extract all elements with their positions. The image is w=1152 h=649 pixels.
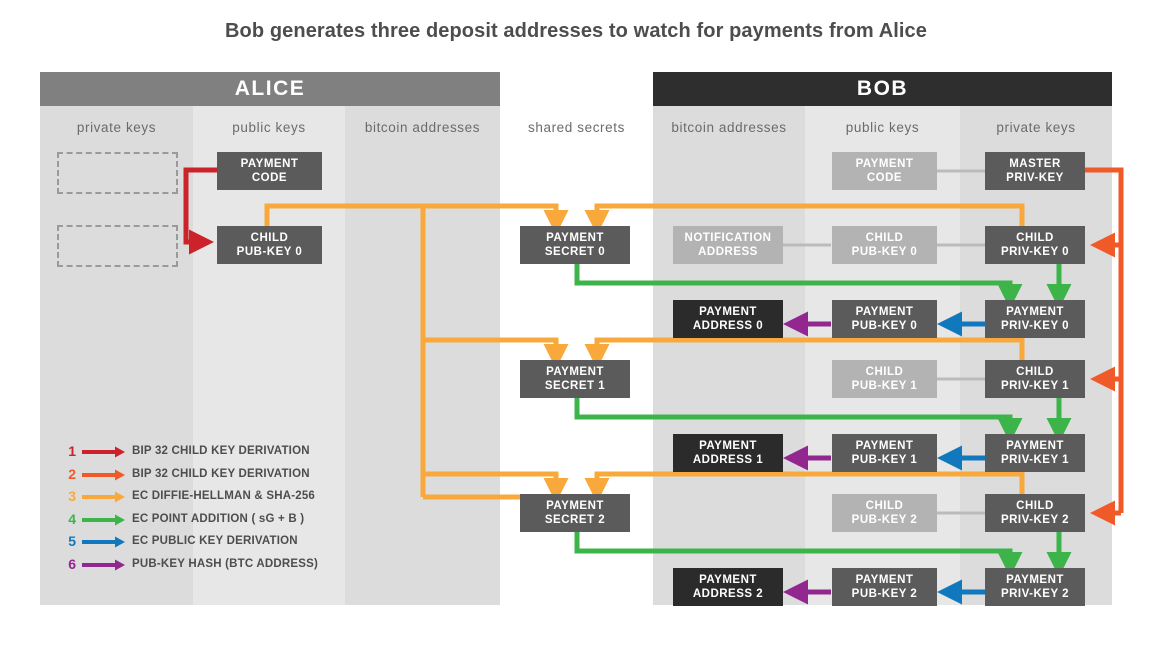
box-line-1: CHILD bbox=[866, 499, 904, 513]
legend-number: 2 bbox=[60, 466, 76, 482]
box-line-1: PAYMENT bbox=[1006, 439, 1064, 453]
bob-payment-pubkey-0-box[interactable]: PAYMENT PUB-KEY 0 bbox=[832, 300, 937, 338]
bob-payment-pubkey-2-box[interactable]: PAYMENT PUB-KEY 2 bbox=[832, 568, 937, 606]
legend-arrow-icon bbox=[82, 468, 126, 480]
box-line-2: CODE bbox=[867, 171, 902, 185]
box-line-2: SECRET 1 bbox=[545, 379, 605, 393]
legend-item: 1 BIP 32 CHILD KEY DERIVATION bbox=[60, 440, 360, 463]
box-line-2: PUB-KEY 1 bbox=[852, 379, 918, 393]
box-line-1: PAYMENT bbox=[241, 157, 299, 171]
box-line-1: PAYMENT bbox=[856, 305, 914, 319]
box-line-2: ADDRESS 1 bbox=[693, 453, 763, 467]
alice-child-pubkey-0-box[interactable]: CHILD PUB-KEY 0 bbox=[217, 226, 322, 264]
alice-payment-code-box[interactable]: PAYMENT CODE bbox=[217, 152, 322, 190]
box-line-2: PUB-KEY 0 bbox=[852, 319, 918, 333]
bob-master-privkey-box[interactable]: MASTER PRIV-KEY bbox=[985, 152, 1085, 190]
box-line-1: PAYMENT bbox=[699, 573, 757, 587]
bob-child-pubkey-2-box[interactable]: CHILD PUB-KEY 2 bbox=[832, 494, 937, 532]
box-line-1: PAYMENT bbox=[546, 499, 604, 513]
box-line-2: PRIV-KEY 1 bbox=[1001, 379, 1069, 393]
legend: 1 BIP 32 CHILD KEY DERIVATION 2 BIP 32 C… bbox=[60, 440, 360, 575]
bob-child-privkey-0-box[interactable]: CHILD PRIV-KEY 0 bbox=[985, 226, 1085, 264]
box-line-2: PRIV-KEY 2 bbox=[1001, 587, 1069, 601]
box-line-1: CHILD bbox=[1016, 231, 1054, 245]
legend-item: 3 EC DIFFIE-HELLMAN & SHA-256 bbox=[60, 485, 360, 508]
box-line-1: CHILD bbox=[866, 231, 904, 245]
box-line-1: PAYMENT bbox=[546, 365, 604, 379]
bob-payment-privkey-2-box[interactable]: PAYMENT PRIV-KEY 2 bbox=[985, 568, 1085, 606]
alice-private-key-placeholder-1 bbox=[57, 225, 178, 267]
alice-private-key-placeholder-0 bbox=[57, 152, 178, 194]
bob-payment-address-2-box[interactable]: PAYMENT ADDRESS 2 bbox=[673, 568, 783, 606]
legend-arrow-icon bbox=[82, 490, 126, 502]
legend-number: 3 bbox=[60, 488, 76, 504]
box-line-2: PRIV-KEY 2 bbox=[1001, 513, 1069, 527]
box-line-1: PAYMENT bbox=[546, 231, 604, 245]
bob-child-privkey-1-box[interactable]: CHILD PRIV-KEY 1 bbox=[985, 360, 1085, 398]
bob-payment-privkey-1-box[interactable]: PAYMENT PRIV-KEY 1 bbox=[985, 434, 1085, 472]
legend-label: EC POINT ADDITION ( sG + B ) bbox=[132, 513, 304, 525]
box-line-2: PUB-KEY 0 bbox=[237, 245, 303, 259]
bob-payment-address-1-box[interactable]: PAYMENT ADDRESS 1 bbox=[673, 434, 783, 472]
box-line-2: SECRET 0 bbox=[545, 245, 605, 259]
box-line-2: PUB-KEY 0 bbox=[852, 245, 918, 259]
shared-secret-2-box[interactable]: PAYMENT SECRET 2 bbox=[520, 494, 630, 532]
bob-payment-pubkey-1-box[interactable]: PAYMENT PUB-KEY 1 bbox=[832, 434, 937, 472]
box-line-1: CHILD bbox=[1016, 365, 1054, 379]
legend-item: 6 PUB-KEY HASH (BTC ADDRESS) bbox=[60, 553, 360, 576]
legend-number: 5 bbox=[60, 533, 76, 549]
box-line-1: CHILD bbox=[866, 365, 904, 379]
bob-notification-address-box[interactable]: NOTIFICATION ADDRESS bbox=[673, 226, 783, 264]
box-line-1: PAYMENT bbox=[856, 573, 914, 587]
legend-number: 6 bbox=[60, 556, 76, 572]
box-line-1: PAYMENT bbox=[1006, 305, 1064, 319]
arrow-bip32-bob bbox=[1085, 170, 1121, 513]
box-line-1: PAYMENT bbox=[856, 157, 914, 171]
box-line-2: PUB-KEY 1 bbox=[852, 453, 918, 467]
shared-secret-0-box[interactable]: PAYMENT SECRET 0 bbox=[520, 226, 630, 264]
bob-payment-address-0-box[interactable]: PAYMENT ADDRESS 0 bbox=[673, 300, 783, 338]
legend-arrow-icon bbox=[82, 513, 126, 525]
box-line-1: PAYMENT bbox=[856, 439, 914, 453]
legend-number: 1 bbox=[60, 443, 76, 459]
box-line-1: PAYMENT bbox=[699, 305, 757, 319]
box-line-1: CHILD bbox=[1016, 499, 1054, 513]
box-line-1: CHILD bbox=[251, 231, 289, 245]
box-line-2: ADDRESS 0 bbox=[693, 319, 763, 333]
legend-arrow-icon bbox=[82, 445, 126, 457]
shared-secret-1-box[interactable]: PAYMENT SECRET 1 bbox=[520, 360, 630, 398]
box-line-2: SECRET 2 bbox=[545, 513, 605, 527]
box-line-1: MASTER bbox=[1009, 157, 1061, 171]
box-line-1: PAYMENT bbox=[699, 439, 757, 453]
diagram-canvas: Bob generates three deposit addresses to… bbox=[0, 0, 1152, 649]
box-line-2: ADDRESS bbox=[698, 245, 758, 259]
legend-label: EC PUBLIC KEY DERIVATION bbox=[132, 535, 298, 547]
arrow-bip32-alice bbox=[186, 170, 217, 242]
bob-payment-privkey-0-box[interactable]: PAYMENT PRIV-KEY 0 bbox=[985, 300, 1085, 338]
legend-label: BIP 32 CHILD KEY DERIVATION bbox=[132, 468, 310, 480]
legend-label: PUB-KEY HASH (BTC ADDRESS) bbox=[132, 558, 318, 570]
legend-number: 4 bbox=[60, 511, 76, 527]
box-line-2: ADDRESS 2 bbox=[693, 587, 763, 601]
box-line-2: PRIV-KEY bbox=[1006, 171, 1064, 185]
legend-item: 4 EC POINT ADDITION ( sG + B ) bbox=[60, 508, 360, 531]
box-line-1: NOTIFICATION bbox=[685, 231, 772, 245]
bob-child-pubkey-0-box[interactable]: CHILD PUB-KEY 0 bbox=[832, 226, 937, 264]
bob-child-privkey-2-box[interactable]: CHILD PRIV-KEY 2 bbox=[985, 494, 1085, 532]
box-line-1: PAYMENT bbox=[1006, 573, 1064, 587]
box-line-2: PUB-KEY 2 bbox=[852, 513, 918, 527]
box-line-2: PRIV-KEY 0 bbox=[1001, 245, 1069, 259]
legend-item: 5 EC PUBLIC KEY DERIVATION bbox=[60, 530, 360, 553]
box-line-2: PRIV-KEY 0 bbox=[1001, 319, 1069, 333]
legend-label: EC DIFFIE-HELLMAN & SHA-256 bbox=[132, 490, 315, 502]
legend-label: BIP 32 CHILD KEY DERIVATION bbox=[132, 445, 310, 457]
legend-arrow-icon bbox=[82, 558, 126, 570]
box-line-2: PRIV-KEY 1 bbox=[1001, 453, 1069, 467]
box-line-2: CODE bbox=[252, 171, 287, 185]
box-line-2: PUB-KEY 2 bbox=[852, 587, 918, 601]
legend-item: 2 BIP 32 CHILD KEY DERIVATION bbox=[60, 463, 360, 486]
bob-child-pubkey-1-box[interactable]: CHILD PUB-KEY 1 bbox=[832, 360, 937, 398]
legend-arrow-icon bbox=[82, 535, 126, 547]
bob-payment-code-box[interactable]: PAYMENT CODE bbox=[832, 152, 937, 190]
